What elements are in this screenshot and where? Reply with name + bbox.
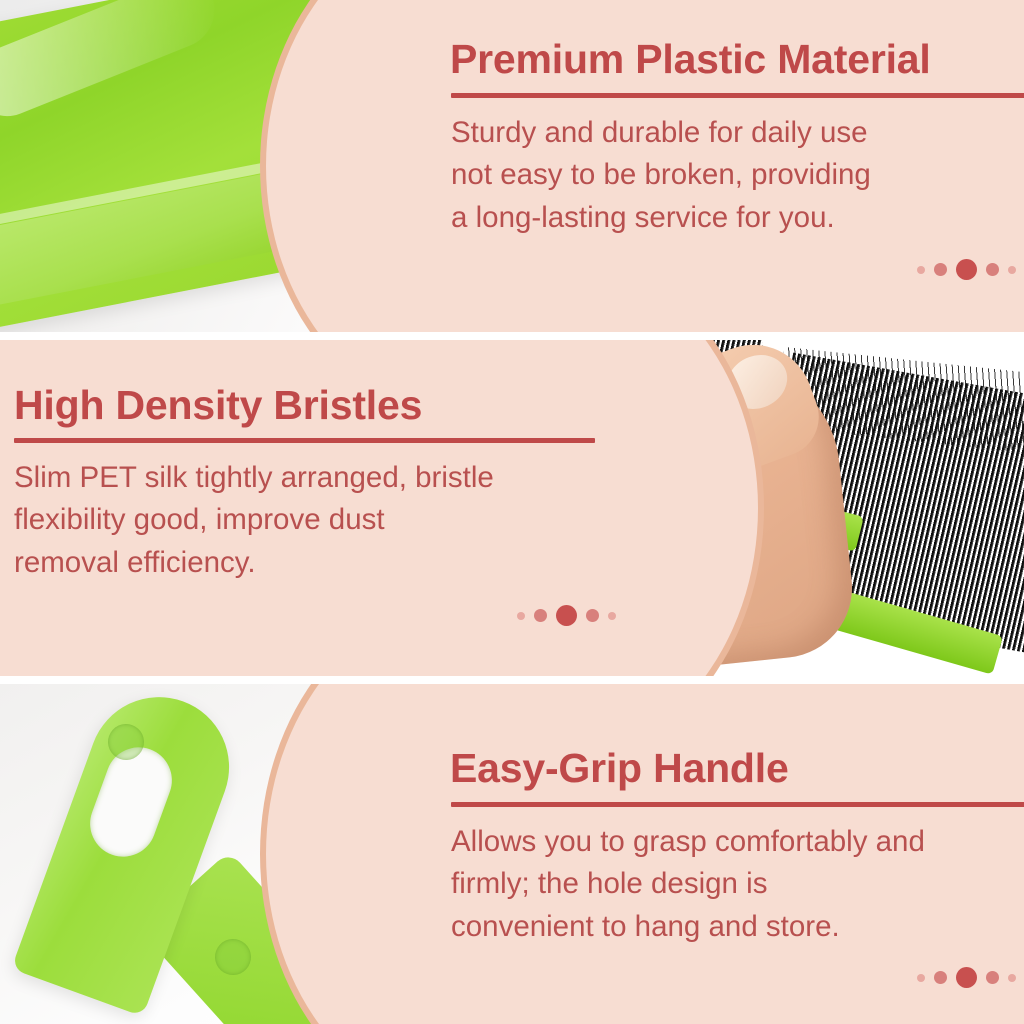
ornament-dot	[608, 612, 616, 620]
feature-panel-high-density-bristles: High Density Bristles Slim PET silk tigh…	[0, 340, 1024, 676]
ornament-dot	[956, 967, 977, 988]
ornament-dot	[934, 263, 947, 276]
ornament-dot	[1008, 974, 1016, 982]
feature-panel-easy-grip-handle: Easy-Grip Handle Allows you to grasp com…	[0, 684, 1024, 1024]
panel-2-dot-ornament	[517, 605, 616, 626]
ornament-dot	[917, 266, 925, 274]
panel-1-heading-rule	[451, 93, 1024, 98]
ornament-dot	[986, 971, 999, 984]
product-photo-brush-bristles	[554, 340, 1024, 676]
panel-2-heading: High Density Bristles	[14, 385, 422, 426]
ornament-dot	[1008, 266, 1016, 274]
ornament-dot	[517, 612, 525, 620]
panel-2-heading-rule	[14, 438, 595, 443]
panel-1-dot-ornament	[917, 259, 1016, 280]
panel-1-body-text: Sturdy and durable for daily use not eas…	[451, 112, 1011, 239]
infographic-board: Premium Plastic Material Sturdy and dura…	[0, 0, 1024, 1024]
product-photo-handle	[0, 684, 470, 1024]
ornament-dot	[917, 974, 925, 982]
feature-text-block-1: Premium Plastic Material Sturdy and dura…	[424, 0, 1024, 332]
ornament-dot	[986, 263, 999, 276]
ornament-dot	[934, 971, 947, 984]
ornament-dot	[956, 259, 977, 280]
panel-3-body-text: Allows you to grasp comfortably and firm…	[451, 821, 1021, 948]
panel-3-heading: Easy-Grip Handle	[450, 748, 789, 789]
feature-text-block-2: High Density Bristles Slim PET silk tigh…	[0, 340, 600, 676]
ornament-dot	[586, 609, 599, 622]
ornament-dot	[534, 609, 547, 622]
panel-3-dot-ornament	[917, 967, 1016, 988]
product-photo-dustpan	[0, 0, 470, 332]
panel-3-heading-rule	[451, 802, 1024, 807]
feature-panel-premium-plastic-material: Premium Plastic Material Sturdy and dura…	[0, 0, 1024, 332]
feature-text-block-3: Easy-Grip Handle Allows you to grasp com…	[424, 684, 1024, 1024]
ornament-dot	[556, 605, 577, 626]
panel-1-heading: Premium Plastic Material	[450, 39, 931, 80]
panel-2-body-text: Slim PET silk tightly arranged, bristle …	[14, 457, 589, 584]
dustpan-highlight	[0, 0, 223, 127]
